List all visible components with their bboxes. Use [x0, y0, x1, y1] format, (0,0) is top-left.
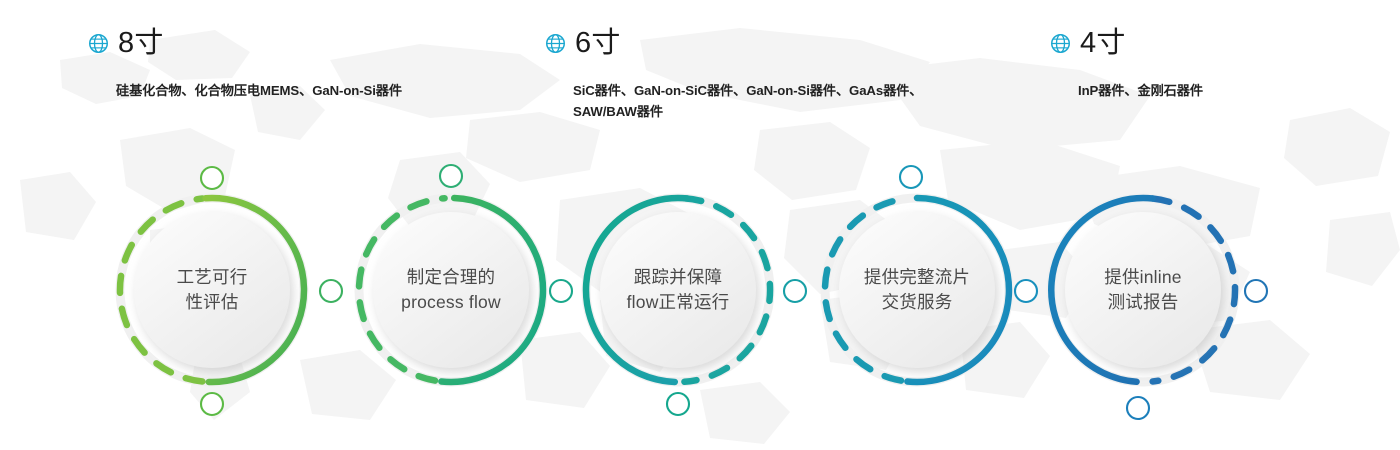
step-disc-2[interactable] — [373, 212, 529, 368]
connector-node-3[interactable] — [320, 280, 342, 302]
connector-node-5[interactable] — [550, 280, 572, 302]
connector-node-10[interactable] — [1127, 397, 1149, 419]
step-disc-4[interactable] — [839, 212, 995, 368]
connector-node-6[interactable] — [667, 393, 689, 415]
infographic-canvas: 8寸 硅基化合物、化合物压电MEMS、GaN-on-Si器件 6寸 SiC器件、… — [0, 0, 1400, 450]
connector-node-11[interactable] — [1245, 280, 1267, 302]
connector-node-4[interactable] — [440, 165, 462, 187]
step-disc-3[interactable] — [600, 212, 756, 368]
step-disc-1[interactable] — [134, 212, 290, 368]
connector-node-2[interactable] — [201, 393, 223, 415]
connector-node-8[interactable] — [900, 166, 922, 188]
connector-node-9[interactable] — [1015, 280, 1037, 302]
step-disc-5[interactable] — [1065, 212, 1221, 368]
connector-node-1[interactable] — [201, 167, 223, 189]
process-flow-rings — [0, 0, 1400, 450]
connector-node-7[interactable] — [784, 280, 806, 302]
